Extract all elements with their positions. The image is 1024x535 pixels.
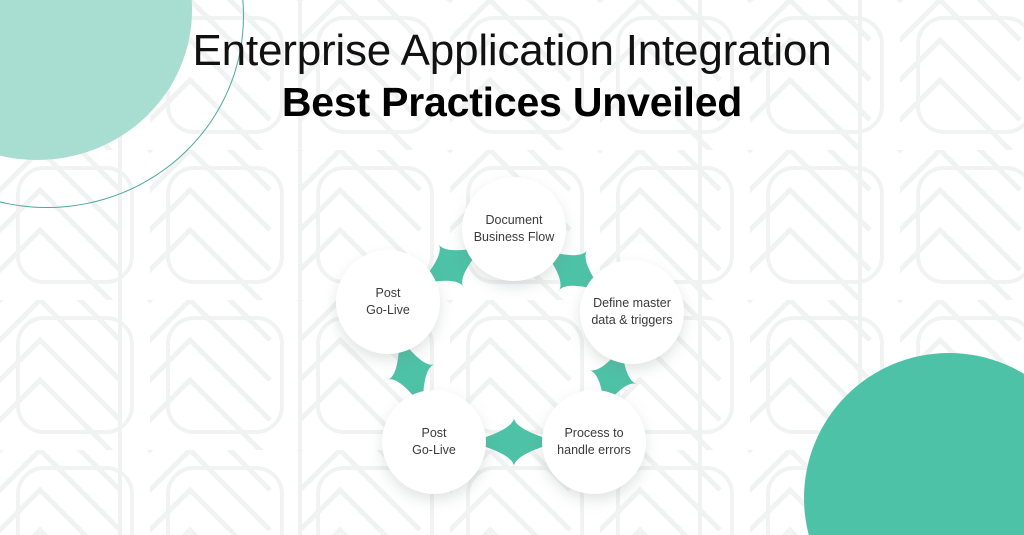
node-post-go-live-left[interactable]: Post Go-Live bbox=[336, 250, 440, 354]
node-label: Process to handle errors bbox=[551, 425, 637, 458]
node-document-business-flow[interactable]: Document Business Flow bbox=[462, 177, 566, 281]
node-label: Document Business Flow bbox=[468, 212, 561, 245]
node-define-master-data-triggers[interactable]: Define master data & triggers bbox=[580, 260, 684, 364]
title-line-1: Enterprise Application Integration bbox=[0, 26, 1024, 76]
page-title: Enterprise Application Integration Best … bbox=[0, 26, 1024, 127]
node-post-go-live-bottom[interactable]: Post Go-Live bbox=[382, 390, 486, 494]
node-label: Post Go-Live bbox=[360, 285, 416, 318]
node-label: Define master data & triggers bbox=[585, 295, 678, 328]
node-process-to-handle-errors[interactable]: Process to handle errors bbox=[542, 390, 646, 494]
node-label: Post Go-Live bbox=[406, 425, 462, 458]
infographic-canvas: Enterprise Application Integration Best … bbox=[0, 0, 1024, 535]
title-line-2: Best Practices Unveiled bbox=[0, 78, 1024, 127]
